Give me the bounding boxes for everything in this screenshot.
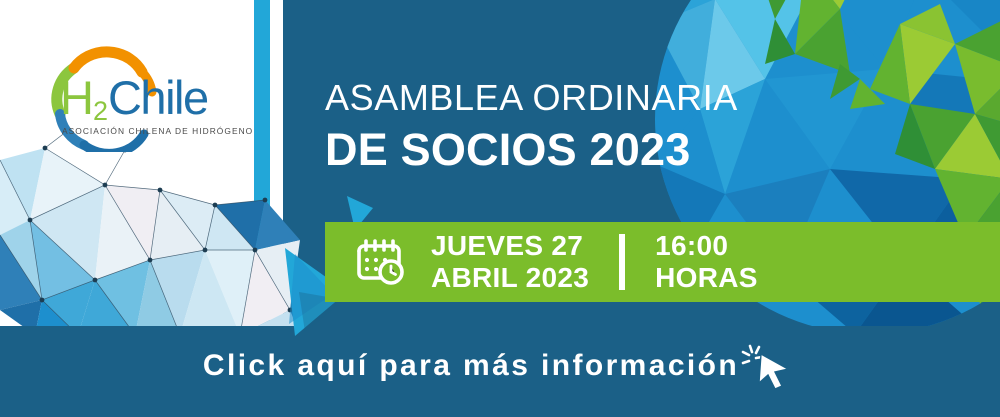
headline-line-2: DE SOCIOS 2023 (325, 127, 745, 172)
page-title: ASAMBLEA ORDINARIA DE SOCIOS 2023 (325, 80, 745, 172)
calendar-clock-icon (353, 236, 405, 288)
logo-chile: Chile (108, 71, 208, 124)
click-cursor-icon (741, 340, 797, 392)
event-date-bar: JUEVES 27 ABRIL 2023 16:00 HORAS (325, 222, 1000, 302)
cta-label: Click aquí para más información (203, 349, 739, 383)
promo-banner: H2Chile ASOCIACIÓN CHILENA DE HIDRÓGENO … (0, 0, 1000, 417)
cta-link[interactable]: Click aquí para más información (0, 338, 1000, 394)
headline-line-1: ASAMBLEA ORDINARIA (325, 80, 745, 116)
low-poly-network-icon (0, 130, 300, 335)
event-date-line-2: ABRIL 2023 (431, 262, 589, 294)
logo-subscript: 2 (93, 96, 108, 126)
event-time-line-2: HORAS (655, 262, 758, 294)
event-date-line-1: JUEVES 27 (431, 230, 589, 262)
h2chile-logo: H2Chile ASOCIACIÓN CHILENA DE HIDRÓGENO (32, 42, 254, 152)
bar-divider (619, 234, 625, 290)
event-date: JUEVES 27 ABRIL 2023 (431, 230, 589, 294)
logo-h: H (60, 71, 93, 124)
event-time-line-1: 16:00 (655, 230, 758, 262)
event-time: 16:00 HORAS (655, 230, 758, 294)
logo-tagline: ASOCIACIÓN CHILENA DE HIDRÓGENO (62, 126, 253, 136)
